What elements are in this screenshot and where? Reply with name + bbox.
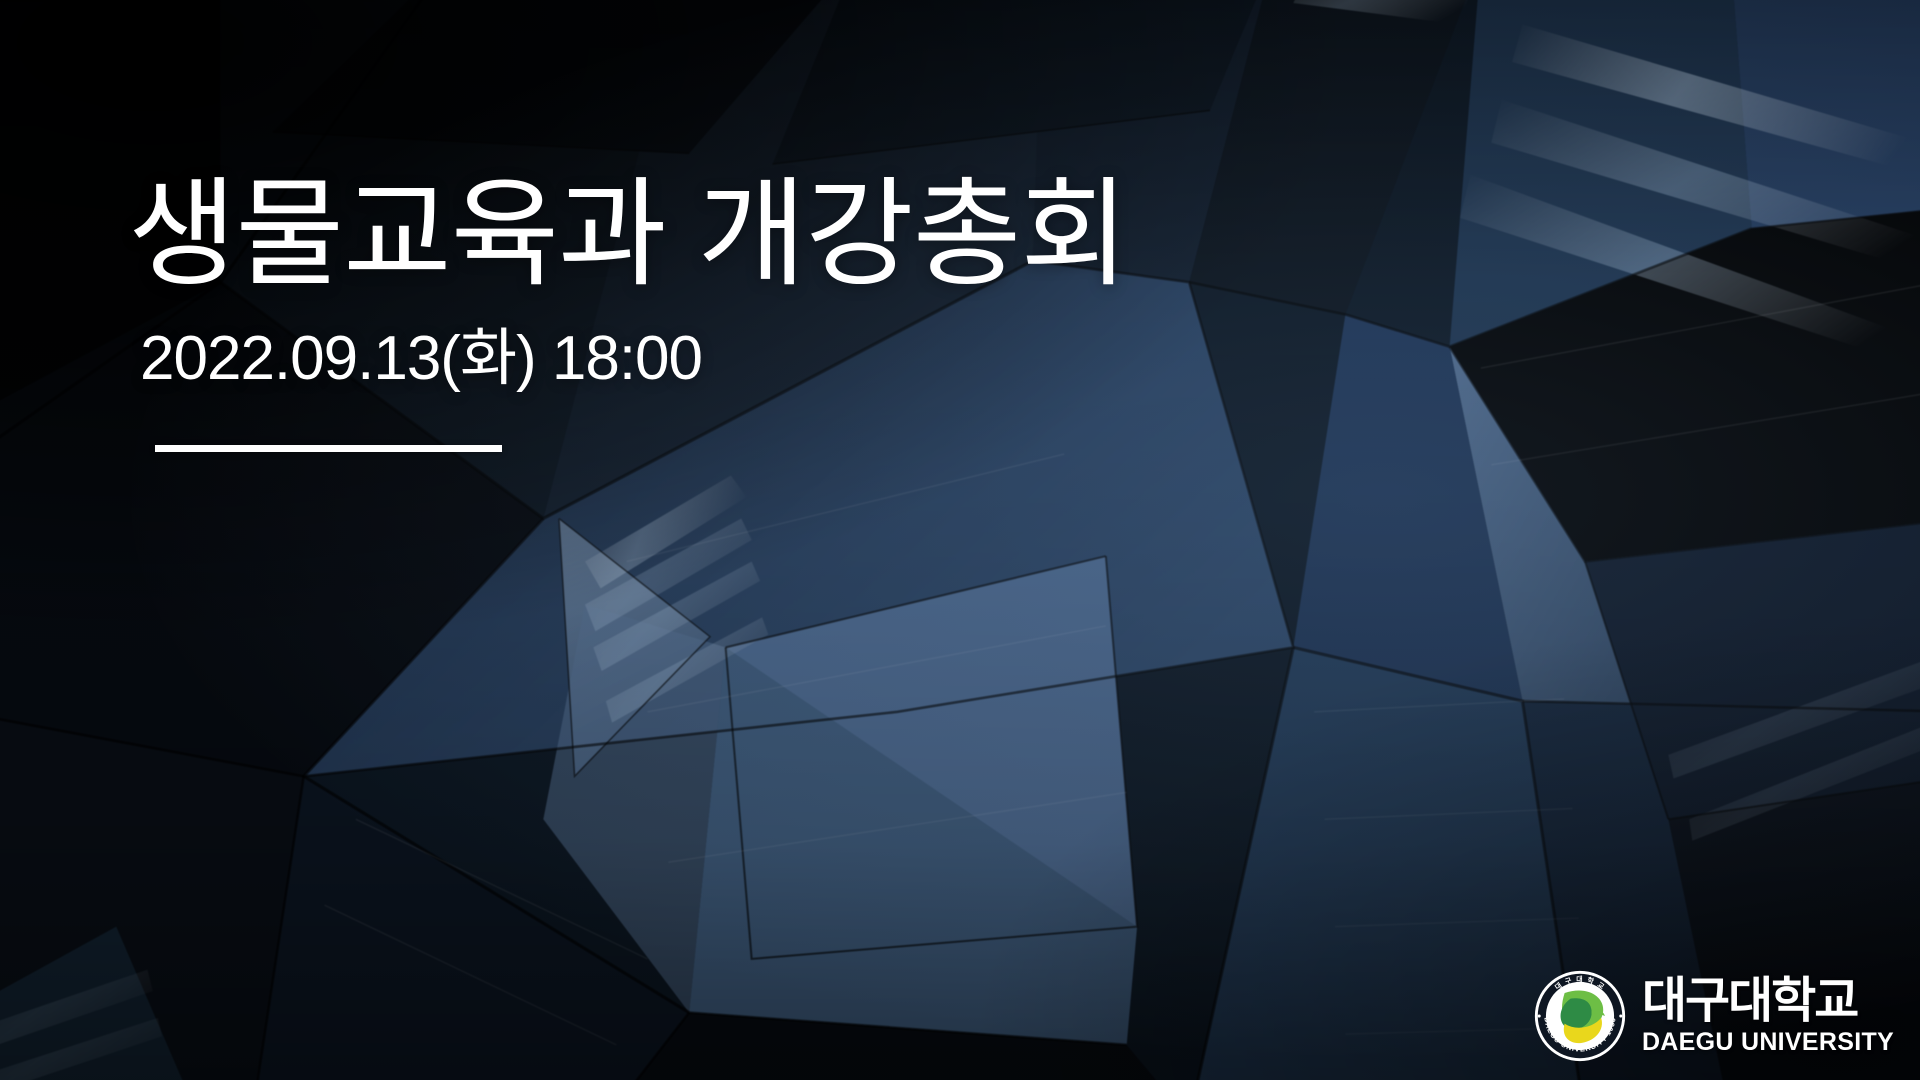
logo-wordmark-korean: 대구대학교: [1642, 977, 1894, 1026]
logo-wordmark-english: DAEGU UNIVERSITY: [1642, 1030, 1894, 1055]
page-title: 생물교육과 개강총회: [128, 176, 1128, 294]
presentation-slide: 생물교육과 개강총회 2022.09.13(화) 18:00 대 구 대: [0, 0, 1920, 1080]
daegu-university-seal-icon: 대 구 대 학 교 DAEGU UNIVERSITY 1956: [1532, 968, 1628, 1064]
background-image: [0, 0, 1920, 1080]
slide-subtitle-datetime: 2022.09.13(화) 18:00: [140, 328, 1128, 390]
title-block: 생물교육과 개강총회 2022.09.13(화) 18:00: [128, 176, 1128, 452]
logo-wordmark: 대구대학교 DAEGU UNIVERSITY: [1642, 977, 1894, 1055]
title-underline-rule: [155, 445, 502, 452]
daegu-university-logo: 대 구 대 학 교 DAEGU UNIVERSITY 1956 대구대학교 DA…: [1532, 968, 1894, 1064]
